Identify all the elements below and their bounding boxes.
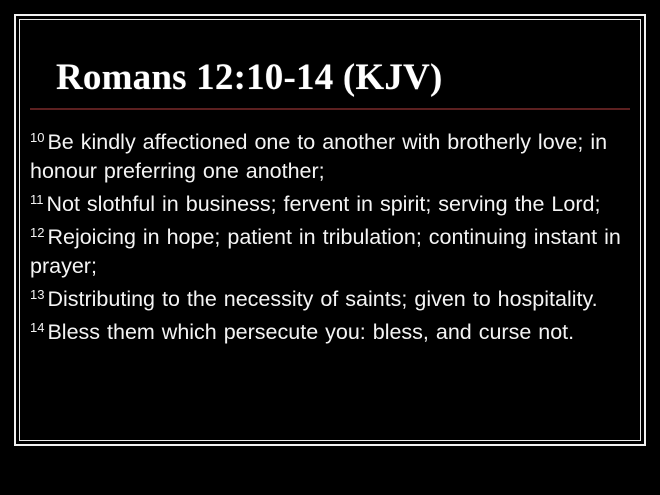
list-item: 14Bless them which persecute you: bless,…	[30, 318, 630, 347]
verse-text: Bless them which persecute you: bless, a…	[47, 320, 574, 344]
verse-number: 10	[30, 130, 47, 145]
title-block: Romans 12:10-14 (KJV)	[22, 56, 638, 110]
verse-list: 10Be kindly affectioned one to another w…	[30, 128, 630, 351]
title-divider	[30, 108, 630, 110]
verse-number: 11	[30, 192, 47, 207]
verse-number: 14	[30, 320, 47, 335]
page-title: Romans 12:10-14 (KJV)	[22, 56, 638, 100]
list-item: 12Rejoicing in hope; patient in tribulat…	[30, 223, 630, 281]
list-item: 13Distributing to the necessity of saint…	[30, 285, 630, 314]
verse-number: 13	[30, 287, 47, 302]
presentation-slide: Romans 12:10-14 (KJV) 10Be kindly affect…	[0, 0, 660, 495]
list-item: 11Not slothful in business; fervent in s…	[30, 190, 630, 219]
slide-content: Romans 12:10-14 (KJV) 10Be kindly affect…	[22, 22, 638, 438]
list-item: 10Be kindly affectioned one to another w…	[30, 128, 630, 186]
verse-text: Be kindly affectioned one to another wit…	[30, 130, 607, 183]
verse-text: Not slothful in business; fervent in spi…	[47, 192, 601, 216]
verse-number: 12	[30, 225, 47, 240]
verse-text: Distributing to the necessity of saints;…	[47, 287, 597, 311]
verse-text: Rejoicing in hope; patient in tribulatio…	[30, 225, 621, 278]
